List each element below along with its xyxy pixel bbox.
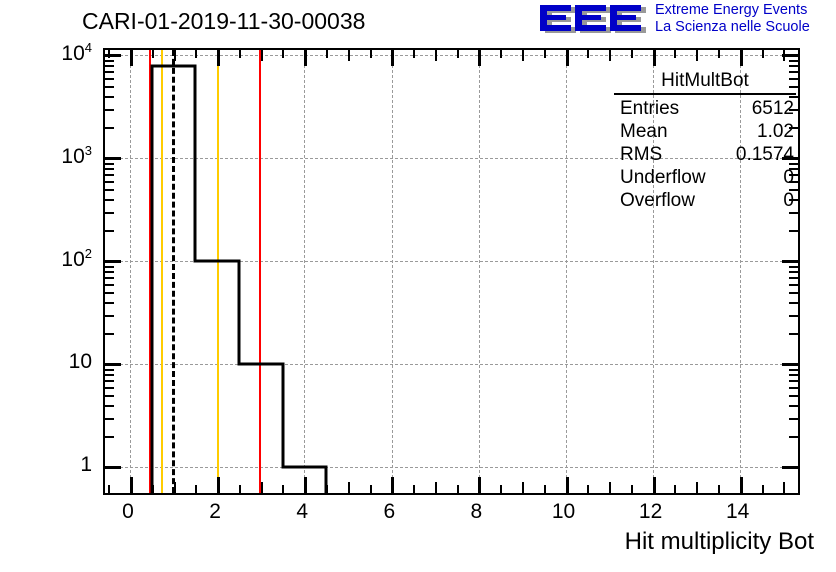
x-tick-major — [653, 477, 656, 493]
y-minor-tick — [105, 71, 114, 73]
x-axis-label: 8 — [446, 500, 506, 524]
x-tick-top-minor — [783, 50, 785, 61]
x-tick-top-minor — [631, 50, 633, 58]
x-tick-top-minor — [609, 50, 611, 61]
x-tick-top-minor — [435, 50, 437, 61]
y-minor-tick — [105, 277, 114, 279]
page-title: CARI-01-2019-11-30-00038 — [82, 8, 365, 35]
x-tick-top-minor — [348, 50, 350, 61]
y-minor-tick — [105, 230, 114, 232]
x-tick-top-minor — [522, 50, 524, 61]
y-major-tick — [105, 363, 121, 366]
x-axis-label: 14 — [708, 500, 768, 524]
x-tick-minor — [783, 482, 785, 493]
y-minor-tick — [105, 163, 114, 165]
x-tick-minor — [195, 485, 197, 493]
stats-row-key: Entries — [620, 97, 679, 120]
y-major-tick — [105, 157, 121, 160]
y-minor-tick-right — [789, 292, 798, 294]
x-tick-top-major — [391, 50, 394, 66]
y-minor-tick — [105, 387, 114, 389]
x-tick-minor — [261, 482, 263, 493]
y-minor-tick — [105, 212, 114, 214]
y-minor-tick — [105, 96, 114, 98]
y-axis-label: 104 — [30, 40, 92, 66]
y-minor-tick — [105, 333, 114, 335]
x-tick-top-minor — [674, 50, 676, 58]
x-tick-minor — [718, 485, 720, 493]
x-tick-top-major — [566, 50, 569, 66]
x-tick-major — [478, 477, 481, 493]
x-tick-minor — [326, 485, 328, 493]
x-tick-minor — [282, 485, 284, 493]
y-minor-tick-right — [789, 387, 798, 389]
y-minor-tick — [105, 266, 114, 268]
x-tick-top-minor — [195, 50, 197, 58]
stats-title: HitMultBot — [614, 70, 796, 95]
y-minor-tick-right — [789, 65, 798, 67]
x-tick-major — [740, 477, 743, 493]
y-axis-label: 1 — [30, 453, 92, 477]
y-minor-tick — [105, 168, 114, 170]
y-minor-tick — [105, 315, 114, 317]
stats-row-value: 0 — [783, 166, 794, 189]
y-minor-tick — [105, 369, 114, 371]
y-minor-tick-right — [789, 212, 798, 214]
y-major-tick-right — [782, 466, 798, 469]
y-major-tick — [105, 260, 121, 263]
y-minor-tick-right — [789, 266, 798, 268]
stats-row-value: 1.02 — [757, 120, 794, 143]
stats-row-key: RMS — [620, 143, 662, 166]
x-tick-minor — [674, 485, 676, 493]
x-tick-minor — [435, 482, 437, 493]
x-axis-label: 12 — [621, 500, 681, 524]
stats-row: Overflow0 — [610, 189, 800, 212]
y-minor-tick-right — [789, 315, 798, 317]
x-tick-top-major — [217, 50, 220, 66]
y-minor-tick-right — [789, 284, 798, 286]
stats-row-value: 0.1574 — [736, 143, 794, 166]
x-tick-major — [566, 477, 569, 493]
y-minor-tick-right — [789, 277, 798, 279]
x-tick-minor — [413, 485, 415, 493]
y-minor-tick-right — [789, 369, 798, 371]
y-minor-tick-right — [789, 271, 798, 273]
x-tick-top-minor — [370, 50, 372, 58]
x-tick-minor — [587, 485, 589, 493]
y-minor-tick — [105, 380, 114, 382]
x-axis-label: 6 — [359, 500, 419, 524]
y-minor-tick — [105, 189, 114, 191]
x-tick-major — [391, 477, 394, 493]
x-tick-minor — [500, 485, 502, 493]
x-axis-label: 2 — [185, 500, 245, 524]
x-axis-label: 10 — [534, 500, 594, 524]
stats-row: Entries6512 — [610, 97, 800, 120]
y-minor-tick-right — [789, 418, 798, 420]
y-minor-tick — [105, 405, 114, 407]
x-tick-top-major — [740, 50, 743, 66]
y-minor-tick — [105, 181, 114, 183]
stats-row-key: Mean — [620, 120, 668, 143]
y-major-tick — [105, 466, 121, 469]
x-tick-top-minor — [282, 50, 284, 58]
eee-logo-line1: Extreme Energy Events — [655, 2, 810, 19]
x-tick-minor — [609, 482, 611, 493]
eee-logo-line2: La Scienza nelle Scuole — [655, 19, 810, 36]
y-minor-tick-right — [789, 436, 798, 438]
y-minor-tick — [105, 302, 114, 304]
y-minor-tick — [105, 395, 114, 397]
y-axis-label: 102 — [30, 246, 92, 272]
y-minor-tick — [105, 127, 114, 129]
y-axis-label: 103 — [30, 143, 92, 169]
y-major-tick-right — [782, 363, 798, 366]
x-tick-minor — [631, 485, 633, 493]
x-tick-top-major — [130, 50, 133, 66]
y-minor-tick — [105, 65, 114, 67]
x-tick-minor — [239, 485, 241, 493]
x-tick-major — [130, 477, 133, 493]
y-minor-tick — [105, 60, 114, 62]
x-tick-minor — [348, 482, 350, 493]
y-axis-label: 10 — [30, 350, 92, 374]
x-tick-top-minor — [152, 50, 154, 58]
y-minor-tick-right — [789, 230, 798, 232]
y-minor-tick-right — [789, 333, 798, 335]
x-axis-label: 4 — [272, 500, 332, 524]
x-tick-top-minor — [261, 50, 263, 61]
x-tick-top-minor — [108, 50, 110, 58]
y-minor-tick — [105, 78, 114, 80]
x-tick-minor — [108, 485, 110, 493]
x-tick-top-minor — [762, 50, 764, 58]
x-tick-top-minor — [696, 50, 698, 61]
x-tick-top-minor — [500, 50, 502, 58]
y-major-tick-right — [782, 260, 798, 263]
eee-logo-text: Extreme Energy Events La Scienza nelle S… — [655, 2, 810, 36]
statistics-box: HitMultBot Entries6512Mean1.02RMS0.1574U… — [610, 70, 800, 212]
y-minor-tick — [105, 174, 114, 176]
x-tick-top-minor — [239, 50, 241, 58]
x-tick-minor — [370, 485, 372, 493]
y-minor-tick — [105, 418, 114, 420]
eee-mark-icon — [537, 2, 647, 36]
y-minor-tick — [105, 292, 114, 294]
x-tick-minor — [174, 482, 176, 493]
eee-logo: Extreme Energy Events La Scienza nelle S… — [537, 2, 833, 38]
stats-row: RMS0.1574 — [610, 143, 800, 166]
stats-row: Mean1.02 — [610, 120, 800, 143]
x-tick-top-minor — [587, 50, 589, 58]
y-minor-tick — [105, 109, 114, 111]
y-minor-tick-right — [789, 60, 798, 62]
x-tick-top-major — [653, 50, 656, 66]
x-tick-major — [217, 477, 220, 493]
x-tick-minor — [522, 482, 524, 493]
y-minor-tick-right — [789, 374, 798, 376]
x-tick-top-major — [304, 50, 307, 66]
stats-row: Underflow0 — [610, 166, 800, 189]
stats-row-key: Underflow — [620, 166, 706, 189]
x-tick-minor — [457, 485, 459, 493]
x-tick-minor — [762, 485, 764, 493]
y-minor-tick — [105, 271, 114, 273]
x-tick-minor — [544, 485, 546, 493]
y-minor-tick — [105, 374, 114, 376]
root-canvas: CARI-01-2019-11-30-00038 — [0, 0, 836, 572]
x-tick-top-minor — [174, 50, 176, 61]
stats-row-value: 0 — [783, 189, 794, 212]
y-minor-tick — [105, 86, 114, 88]
x-axis-title: Hit multiplicity Bot — [625, 528, 814, 556]
y-minor-tick — [105, 284, 114, 286]
stats-row-value: 6512 — [752, 97, 794, 120]
y-minor-tick-right — [789, 395, 798, 397]
stats-row-key: Overflow — [620, 189, 695, 212]
y-minor-tick-right — [789, 405, 798, 407]
x-tick-top-minor — [544, 50, 546, 58]
x-tick-minor — [152, 485, 154, 493]
x-tick-top-minor — [718, 50, 720, 58]
x-tick-top-minor — [413, 50, 415, 58]
x-tick-top-major — [478, 50, 481, 66]
x-tick-top-minor — [326, 50, 328, 58]
y-minor-tick — [105, 199, 114, 201]
x-tick-minor — [696, 482, 698, 493]
x-axis-label: 0 — [98, 500, 158, 524]
y-minor-tick-right — [789, 380, 798, 382]
y-minor-tick — [105, 436, 114, 438]
x-tick-major — [304, 477, 307, 493]
y-minor-tick-right — [789, 302, 798, 304]
x-tick-top-minor — [457, 50, 459, 58]
stats-rows: Entries6512Mean1.02RMS0.1574Underflow0Ov… — [610, 97, 800, 212]
